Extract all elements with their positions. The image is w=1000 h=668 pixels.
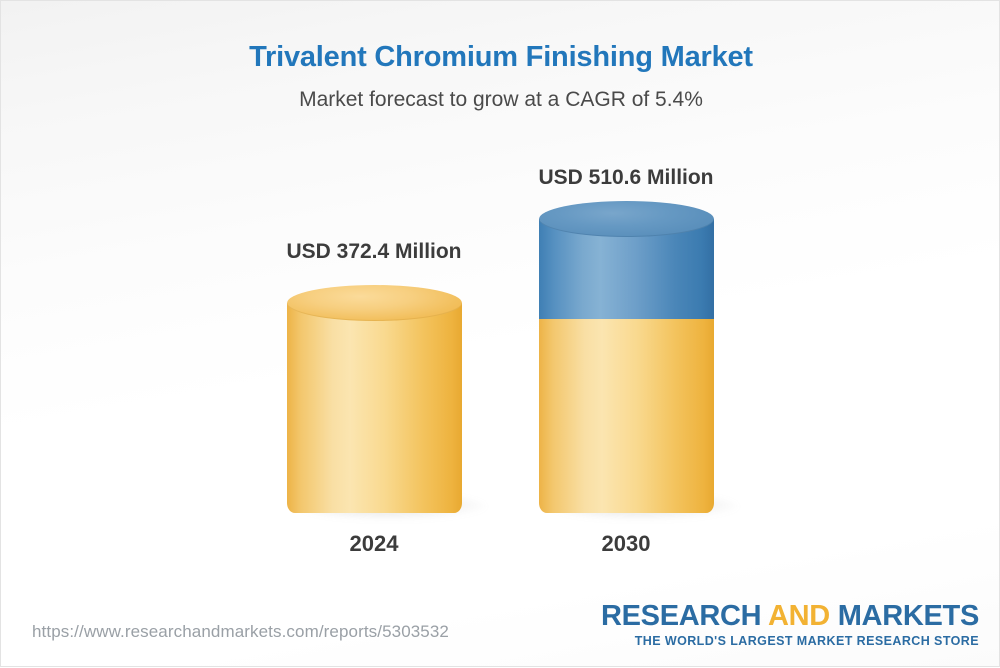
brand-logo[interactable]: RESEARCH AND MARKETS THE WORLD'S LARGEST… (601, 601, 979, 650)
cylinder-segment-base-2024 (287, 285, 462, 513)
cylinder-body (539, 285, 714, 513)
cylinder-bar-2024 (287, 285, 462, 513)
chart-plot-area: USD 372.4 Million 2024 USD 510.6 Million (1, 1, 1000, 668)
bar-value-label-2030: USD 510.6 Million (511, 166, 741, 190)
brand-word-research: RESEARCH (601, 600, 761, 632)
cylinder-bar-2030 (539, 201, 714, 513)
cylinder-top-cap (287, 285, 462, 321)
cylinder-top-cap (539, 201, 714, 237)
category-label-2024: 2024 (259, 531, 489, 557)
bar-value-label-2024: USD 372.4 Million (259, 240, 489, 264)
cylinder-body (287, 303, 462, 513)
brand-tagline: THE WORLD'S LARGEST MARKET RESEARCH STOR… (601, 633, 979, 650)
brand-name: RESEARCH AND MARKETS (601, 601, 979, 632)
cylinder-segment-base-2030 (539, 285, 714, 513)
category-label-2030: 2030 (511, 531, 741, 557)
source-url[interactable]: https://www.researchandmarkets.com/repor… (32, 622, 449, 642)
infographic-canvas: Trivalent Chromium Finishing Market Mark… (0, 0, 1000, 667)
brand-word-and: AND (768, 600, 830, 632)
brand-word-markets: MARKETS (838, 600, 979, 632)
cylinder-segment-growth-2030 (539, 201, 714, 319)
